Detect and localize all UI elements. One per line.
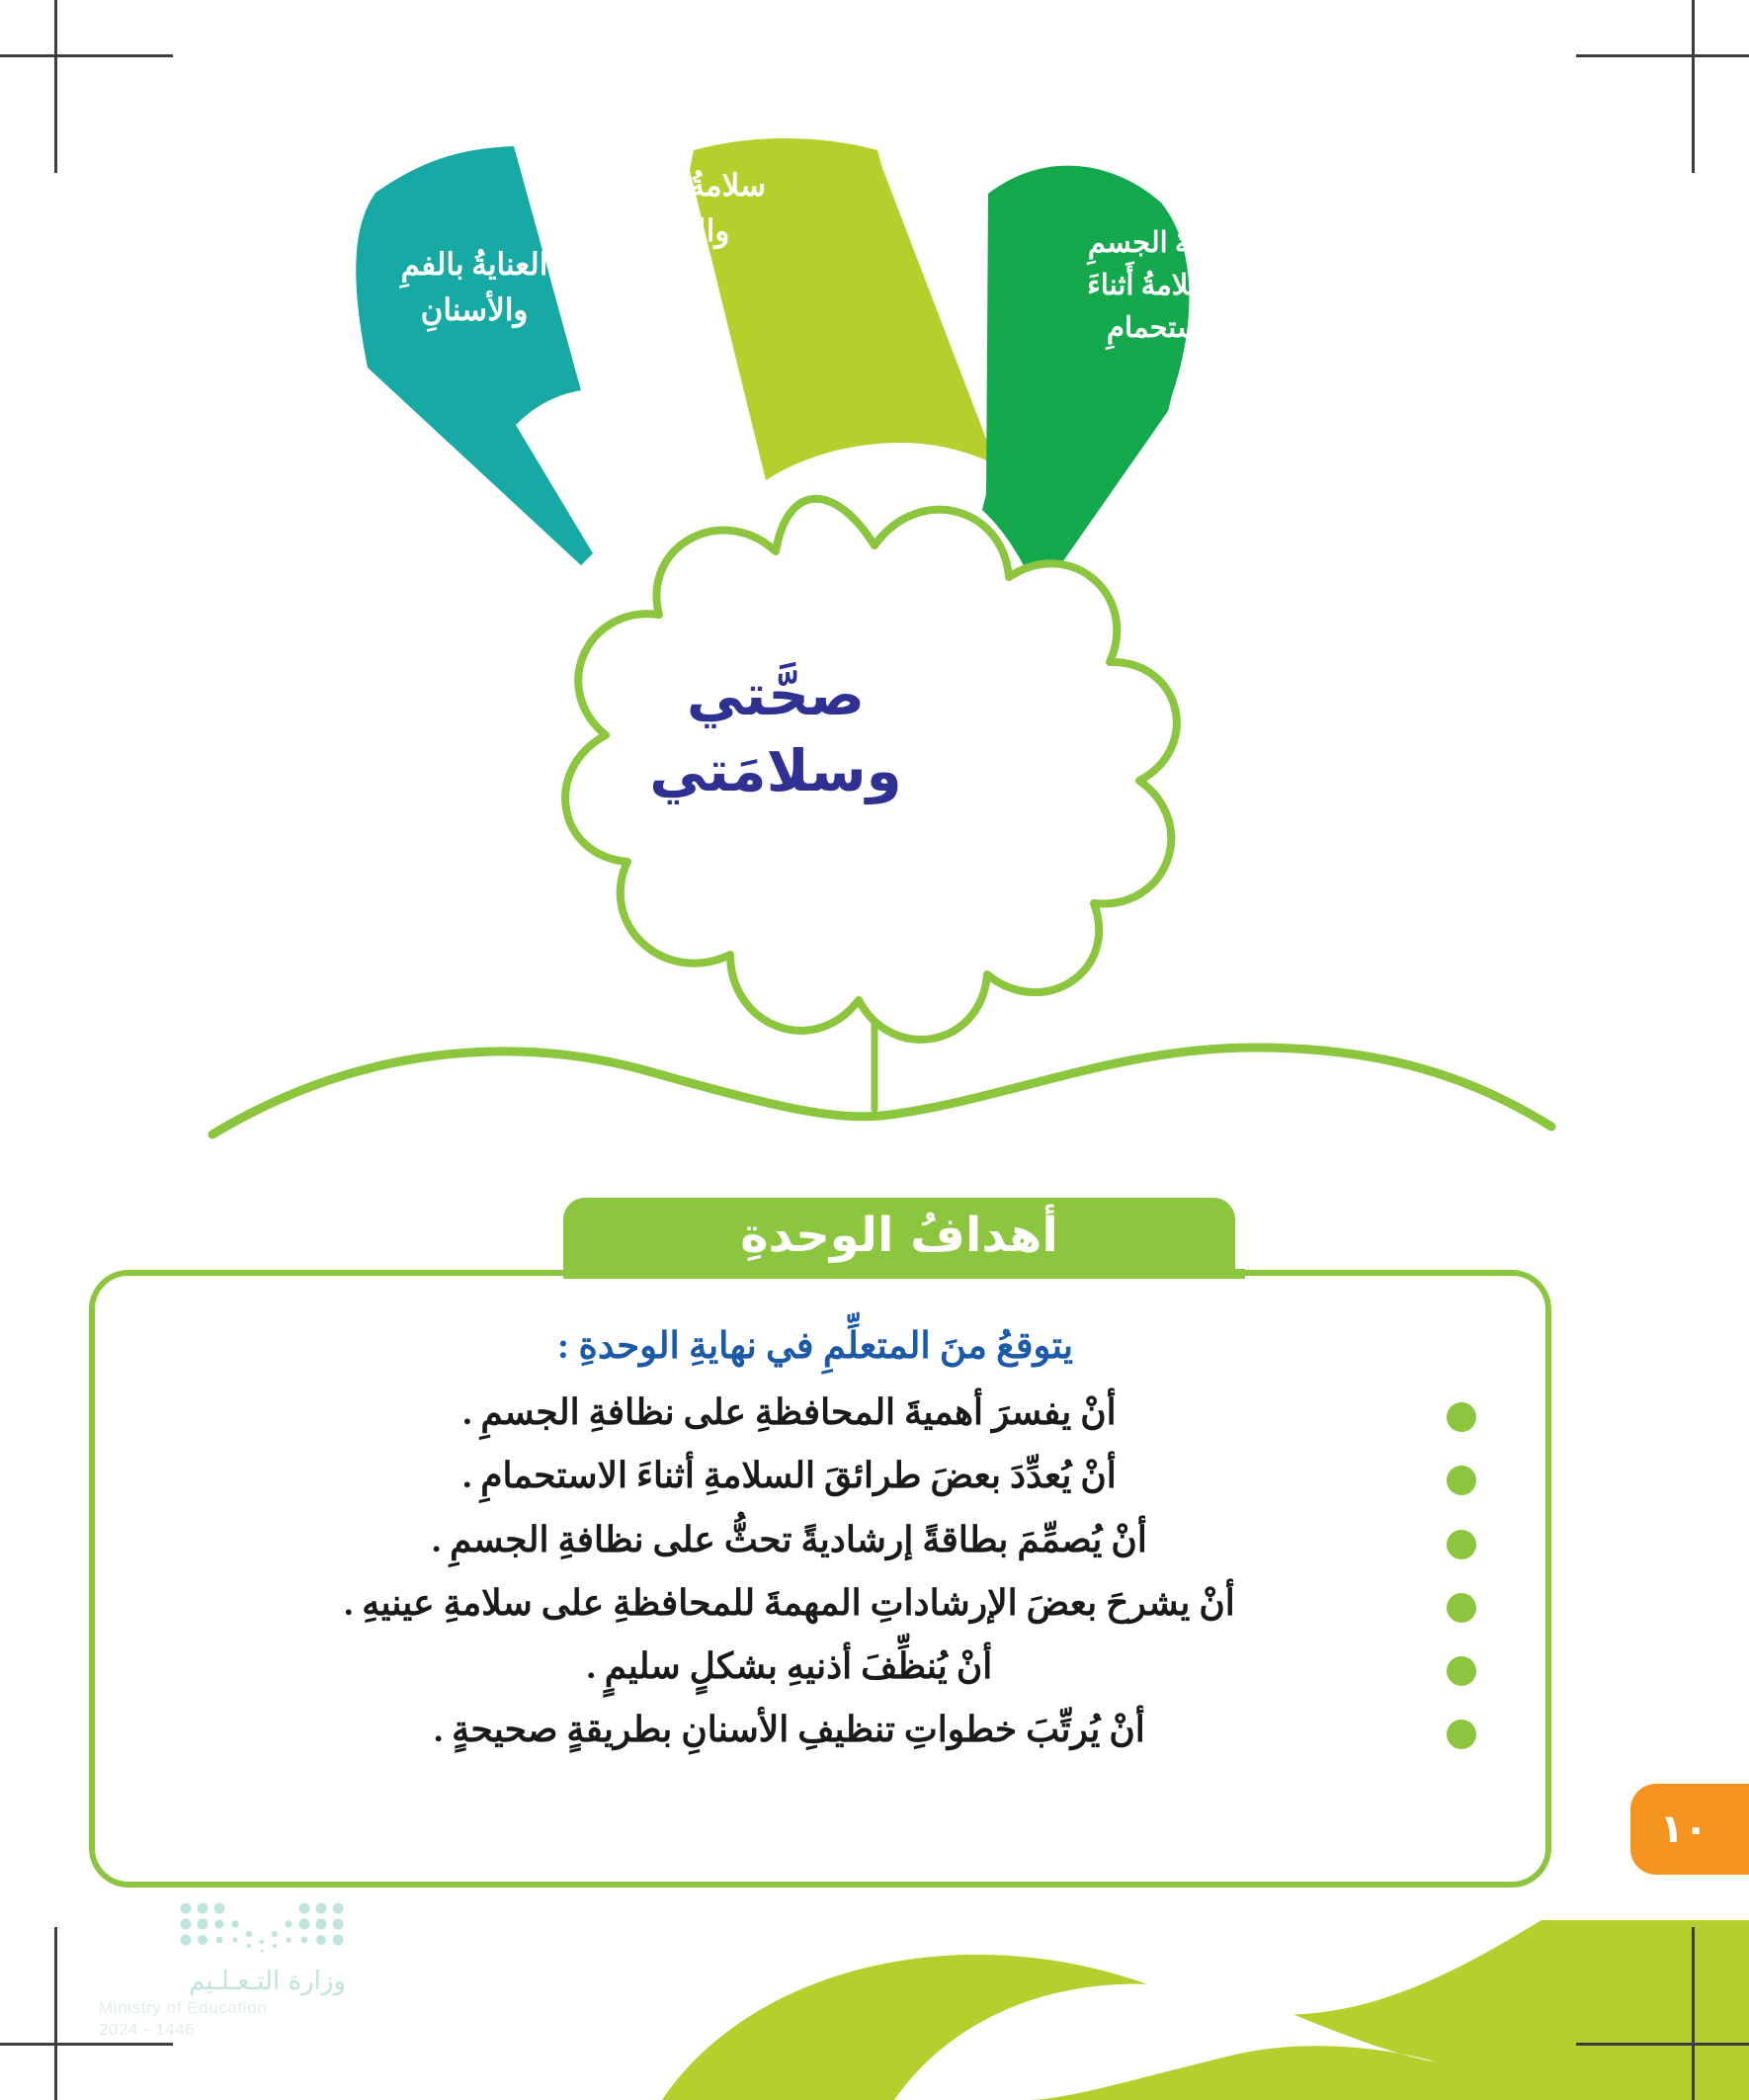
- crop-mark-top-left-v: [54, 0, 57, 173]
- goal-text: أنْ يشرحَ بعضَ الإرشاداتِ المهمةَ للمحاف…: [154, 1579, 1425, 1627]
- unit-title-line-2: وسلامَتي: [553, 733, 998, 809]
- list-item: أنْ يُنظِّفَ أذنيهِ بشكلٍ سليمٍ .: [154, 1642, 1476, 1690]
- list-item: أنْ يشرحَ بعضَ الإرشاداتِ المهمةَ للمحاف…: [154, 1579, 1476, 1627]
- list-item: أنْ يُعدِّدَ بعضَ طرائقَ السلامةِ أثناءَ…: [154, 1452, 1476, 1499]
- crop-mark-bottom-left-h: [0, 2043, 173, 2046]
- goals-card: يتوقعُ منَ المتعلِّمِ في نهايةِ الوحدةِ …: [89, 1270, 1551, 1888]
- unit-title: صحَّتي وسلامَتي: [553, 657, 998, 808]
- petal-shape-eyes-ears: [690, 138, 996, 480]
- crop-mark-bottom-right-h: [1576, 2043, 1749, 2046]
- goals-intro: يتوقعُ منَ المتعلِّمِ في نهايةِ الوحدةِ …: [154, 1323, 1476, 1371]
- bullet-icon: [1447, 1466, 1476, 1495]
- page-number-badge: ١٠: [1630, 1784, 1749, 1875]
- list-item: أنْ يفسرَ أهميةَ المحافظةِ على نظافةِ ال…: [154, 1388, 1476, 1436]
- goals-banner-title: أهدافُ الوحدةِ: [740, 1208, 1058, 1263]
- crop-mark-bottom-right-v: [1692, 1927, 1695, 2100]
- goals-list: أنْ يفسرَ أهميةَ المحافظةِ على نظافةِ ال…: [154, 1388, 1476, 1753]
- crop-mark-top-right-h: [1576, 54, 1749, 57]
- list-item: أنْ يُرتِّبَ خطواتِ تنظيفِ الأسنانِ بطري…: [154, 1706, 1476, 1753]
- goal-text: أنْ يُنظِّفَ أذنيهِ بشكلٍ سليمٍ .: [154, 1642, 1425, 1690]
- crop-mark-top-right-v: [1692, 0, 1695, 173]
- ground-wave: [212, 1048, 1551, 1134]
- bullet-icon: [1447, 1530, 1476, 1559]
- bullet-icon: [1447, 1656, 1476, 1686]
- logo-arabic-text: وزارة التـعـلـيم: [148, 1967, 346, 1996]
- unit-flower-diagram: العنايةُ بالفمِوالأسنانِ سلامةُ العينينِ…: [0, 0, 1749, 1166]
- goal-text: أنْ يفسرَ أهميةَ المحافظةِ على نظافةِ ال…: [154, 1388, 1425, 1436]
- logo-dots-icon: [178, 1902, 346, 1954]
- logo-year-text: 2024 - 1446: [99, 2020, 346, 2040]
- bullet-icon: [1447, 1593, 1476, 1623]
- crop-mark-top-left-h: [0, 54, 173, 57]
- crop-mark-bottom-left-v: [54, 1927, 57, 2100]
- bullet-icon: [1447, 1402, 1476, 1432]
- textbook-page: العنايةُ بالفمِوالأسنانِ سلامةُ العينينِ…: [0, 0, 1749, 2100]
- goal-text: أنْ يُصمِّمَ بطاقةً إرشاديةً تحثُّ على ن…: [154, 1516, 1425, 1563]
- logo-english-text: Ministry of Education: [99, 1998, 346, 2018]
- unit-title-line-1: صحَّتي: [553, 657, 998, 733]
- bullet-icon: [1447, 1720, 1476, 1749]
- ministry-logo: وزارة التـعـلـيم Ministry of Education 2…: [99, 1902, 346, 2040]
- list-item: أنْ يُصمِّمَ بطاقةً إرشاديةً تحثُّ على ن…: [154, 1516, 1476, 1563]
- goal-text: أنْ يُعدِّدَ بعضَ طرائقَ السلامةِ أثناءَ…: [154, 1452, 1425, 1499]
- page-number: ١٠: [1660, 1806, 1708, 1852]
- goal-text: أنْ يُرتِّبَ خطواتِ تنظيفِ الأسنانِ بطري…: [154, 1706, 1425, 1753]
- petal-shape-body-bath: [982, 166, 1190, 598]
- goals-banner: أهدافُ الوحدةِ: [563, 1198, 1235, 1277]
- petal-shape-oral-care: [356, 146, 593, 565]
